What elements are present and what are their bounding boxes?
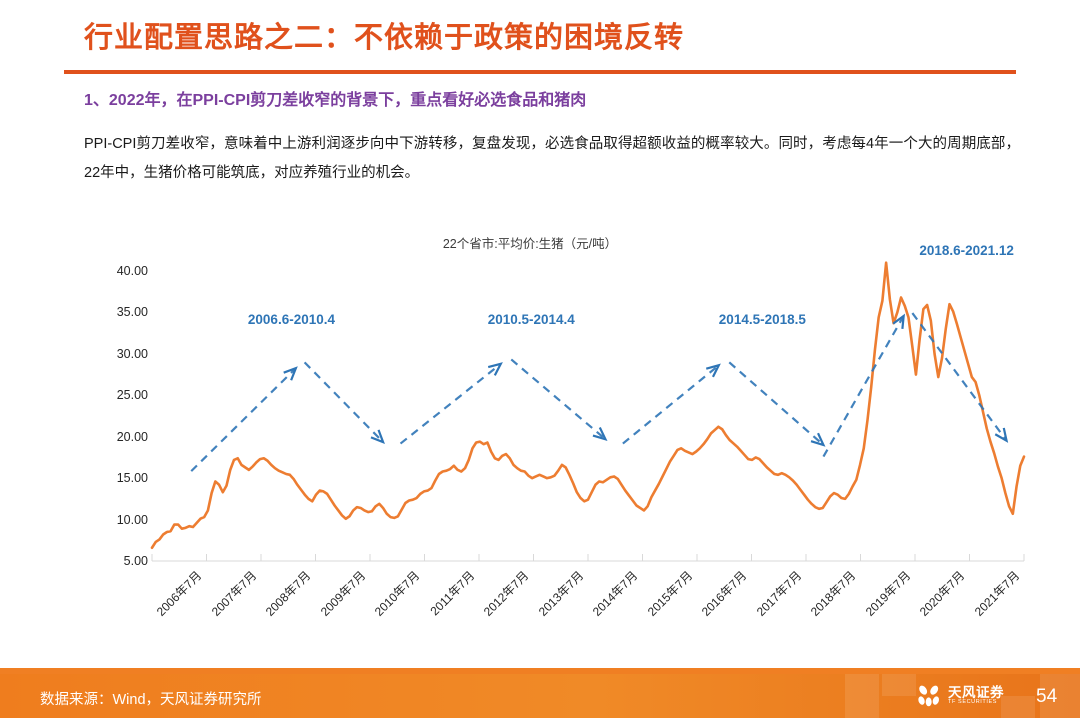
section-subtitle: 1、2022年，在PPI-CPI剪刀差收窄的背景下，重点看好必选食品和猪肉 xyxy=(84,86,586,110)
title-divider xyxy=(64,70,1016,74)
cycle-label: 2018.6-2021.12 xyxy=(919,243,1014,258)
chart-title: 22个省市:平均价:生猪（元/吨） xyxy=(0,233,1080,252)
x-axis-tick: 2020年7月 xyxy=(916,567,969,620)
plot-gridlines xyxy=(152,554,1024,561)
body-paragraph: PPI-CPI剪刀差收窄，意味着中上游利润逐步向中下游转移，复盘发现，必选食品取… xyxy=(84,130,1020,188)
pig-price-chart: 22个省市:平均价:生猪（元/吨） 40.0035.0030.0025.0020… xyxy=(0,225,1080,645)
y-axis-tick: 20.00 xyxy=(117,430,148,444)
price-line xyxy=(152,263,1024,548)
y-axis-tick: 15.00 xyxy=(117,471,148,485)
chart-title-text: 22个省市:平均价:生猪（元/吨） xyxy=(443,233,617,252)
x-axis-tick: 2015年7月 xyxy=(643,567,696,620)
x-axis-tick: 2014年7月 xyxy=(589,567,642,620)
footer-decor-square-1 xyxy=(845,674,879,718)
y-axis-tick: 10.00 xyxy=(117,513,148,527)
page-title: 行业配置思路之二：不依赖于政策的困境反转 xyxy=(84,14,684,56)
cycle-label: 2010.5-2014.4 xyxy=(488,312,575,327)
x-axis: 2006年7月2007年7月2008年7月2009年7月2010年7月2011年… xyxy=(152,561,1024,651)
x-axis-tick: 2018年7月 xyxy=(807,567,860,620)
y-axis: 40.0035.0030.0025.0020.0015.0010.005.00 xyxy=(104,225,148,570)
x-axis-tick: 2021年7月 xyxy=(970,567,1023,620)
logo-name-en: TF SECURITIES xyxy=(948,700,1004,706)
logo-text: 天风证券 TF SECURITIES xyxy=(948,686,1004,706)
logo-name-cn: 天风证券 xyxy=(948,686,1004,700)
x-axis-tick: 2011年7月 xyxy=(426,567,478,619)
x-axis-tick: 2006年7月 xyxy=(153,567,206,620)
tf-flower-icon xyxy=(916,683,942,709)
x-axis-tick: 2009年7月 xyxy=(316,567,369,620)
cycle-label: 2006.6-2010.4 xyxy=(248,312,335,327)
cycle-label: 2014.5-2018.5 xyxy=(719,312,806,327)
x-axis-tick: 2007年7月 xyxy=(207,567,260,620)
footer-decor-square-2 xyxy=(882,674,916,696)
x-axis-tick: 2019年7月 xyxy=(861,567,914,620)
trend-arrows xyxy=(191,313,1006,471)
page-number: 54 xyxy=(1036,686,1057,708)
y-axis-tick: 30.00 xyxy=(117,347,148,361)
data-source-text: 数据来源：Wind，天风证券研究所 xyxy=(40,688,262,709)
y-axis-tick: 40.00 xyxy=(117,264,148,278)
x-axis-tick: 2017年7月 xyxy=(752,567,805,620)
x-axis-tick: 2008年7月 xyxy=(262,567,315,620)
company-logo: 天风证券 TF SECURITIES xyxy=(916,674,1026,718)
y-axis-tick: 25.00 xyxy=(117,388,148,402)
x-axis-tick: 2010年7月 xyxy=(371,567,424,620)
x-axis-tick: 2013年7月 xyxy=(534,567,587,620)
y-axis-tick: 35.00 xyxy=(117,305,148,319)
x-axis-tick: 2012年7月 xyxy=(480,567,533,620)
x-axis-tick: 2016年7月 xyxy=(698,567,751,620)
y-axis-tick: 5.00 xyxy=(124,554,148,568)
